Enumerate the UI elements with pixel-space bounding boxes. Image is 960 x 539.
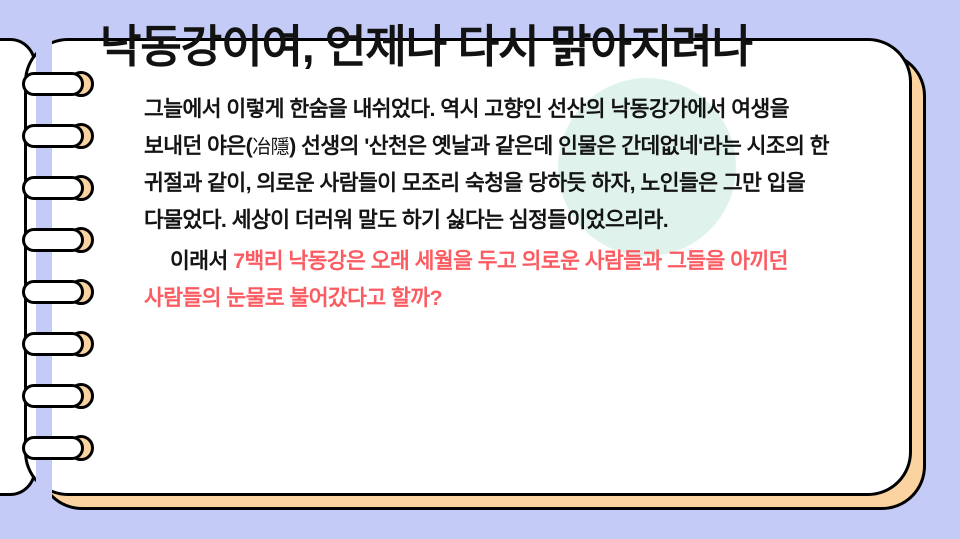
paragraph-highlight: 이래서 7백리 낙동강은 오래 세월을 두고 의로운 사람들과 그들을 아끼던 …: [144, 243, 844, 317]
slide-canvas: 낙동강이여, 언제나 다시 맑아지려나 그늘에서 이렇게 한숨을 내쉬었다. 역…: [0, 0, 960, 539]
text-segment-normal: 이래서: [170, 249, 233, 273]
paragraph-body: 그늘에서 이렇게 한숨을 내쉬었다. 역시 고향인 선산의 낙동강가에서 여생을…: [144, 91, 844, 239]
ring-pill-icon: [22, 384, 84, 408]
ring-pill-icon: [22, 280, 84, 304]
text-segment-hanja: 冶隱: [252, 137, 289, 158]
ring-pill-icon: [22, 72, 84, 96]
ring-pill-icon: [22, 228, 84, 252]
ring-pill-icon: [22, 176, 84, 200]
card-content: 낙동강이여, 언제나 다시 맑아지려나 그늘에서 이렇게 한숨을 내쉬었다. 역…: [86, 20, 876, 317]
body-text-block: 그늘에서 이렇게 한숨을 내쉬었다. 역시 고향인 선산의 낙동강가에서 여생을…: [144, 91, 844, 317]
ring-pill-icon: [22, 436, 84, 460]
ring-pill-icon: [22, 332, 84, 356]
page-title: 낙동강이여, 언제나 다시 맑아지려나: [100, 20, 876, 73]
ring-pill-icon: [22, 124, 84, 148]
text-segment-highlight: 7백리 낙동강은 오래 세월을 두고 의로운 사람들과 그들을 아끼던 사람들의…: [144, 249, 788, 310]
